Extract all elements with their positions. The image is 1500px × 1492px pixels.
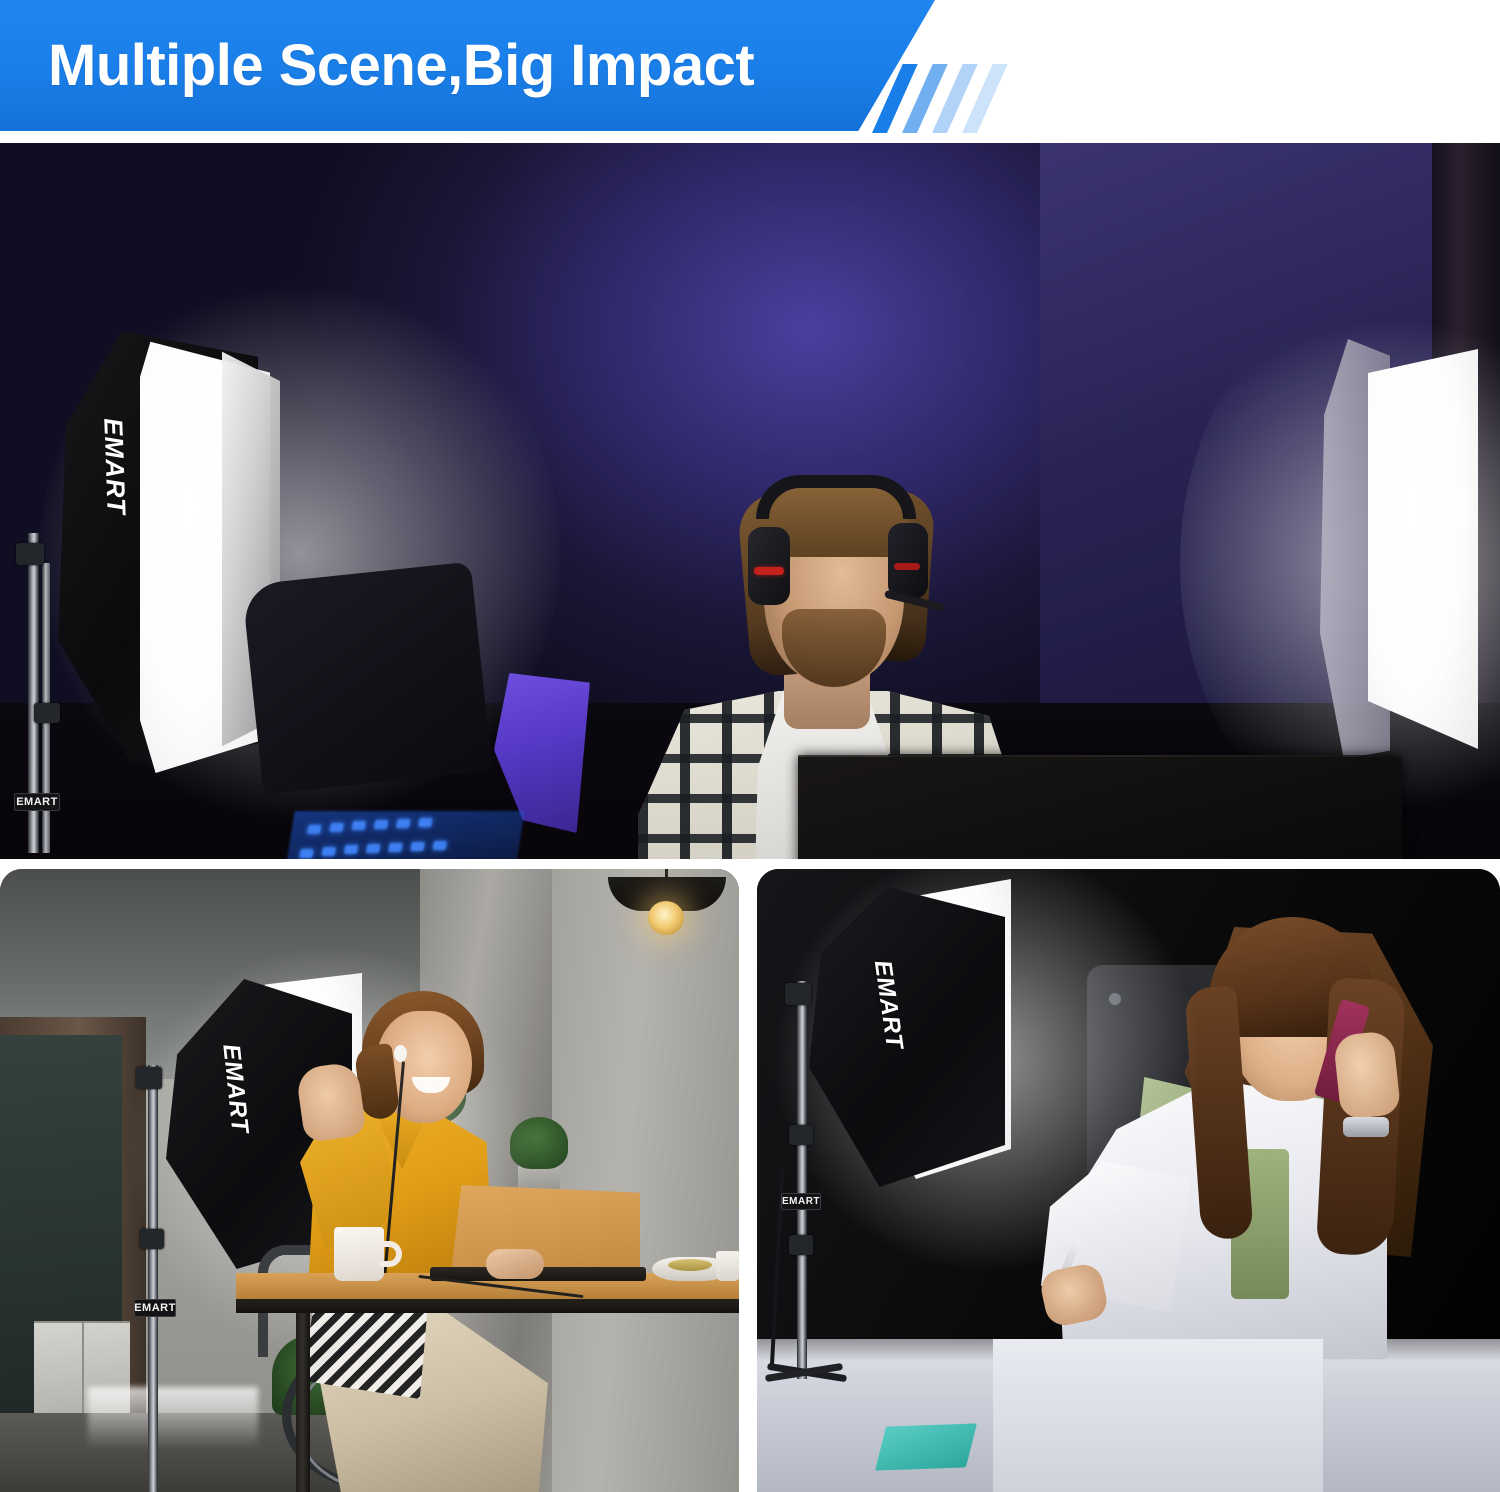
desk-leg [296, 1313, 310, 1492]
floor-light-spill [88, 1387, 258, 1449]
emart-logo-softbox-left: EMART [97, 418, 131, 516]
desk-frame-edge [236, 1299, 739, 1313]
panel-game-live: EMART EMART [0, 143, 1500, 859]
stand-knob-low [789, 1235, 813, 1255]
snack-contents [668, 1259, 712, 1271]
small-cup [716, 1251, 739, 1281]
gaming-chair [242, 562, 493, 795]
headset-earcup-left [748, 527, 790, 605]
emart-plate-stand: EMART [781, 1193, 821, 1210]
woman-phone-hand [1333, 1030, 1401, 1120]
panel-video-meeting: EMART EMART [0, 869, 739, 1492]
teal-sticky-note [875, 1423, 977, 1470]
banner-stripe-decoration [866, 64, 1026, 133]
stand-knob-lower [34, 703, 60, 723]
stand-knob-upper [16, 543, 44, 565]
monitor-screen [798, 757, 1402, 859]
studio-lighting-photo: EMART EMART [757, 869, 1500, 1492]
headset-accent-right [894, 563, 920, 570]
stand-knob-mid [789, 1125, 813, 1145]
banner-title: Multiple Scene,Big Impact [48, 16, 878, 116]
emart-plate-stand-left: EMART [14, 793, 60, 811]
game-live-photo: EMART EMART [0, 143, 1500, 859]
softbox-right-diffuser [1368, 349, 1478, 749]
headset-accent-left [754, 567, 784, 575]
paper-documents [993, 1339, 1323, 1492]
headset-earcup-right [888, 523, 928, 599]
emart-logo-softbox: EMART [216, 1043, 253, 1135]
emart-logo-softbox: EMART [868, 959, 908, 1052]
stand-knob-mid [140, 1229, 164, 1249]
coffee-mug [334, 1227, 384, 1281]
cabinet-divider [82, 1321, 84, 1413]
emart-plate-stand: EMART [134, 1299, 176, 1317]
woman-typing-hand [486, 1249, 544, 1279]
video-meeting-photo: EMART EMART [0, 869, 739, 1492]
earbud [394, 1045, 407, 1062]
rgb-keyboard-glow [277, 811, 524, 859]
light-stand [148, 1065, 158, 1492]
panel-studio-lighting: EMART EMART Studio Lighting [757, 869, 1500, 1492]
header-banner: Multiple Scene,Big Impact [0, 0, 1500, 133]
headset-headband [756, 475, 916, 519]
chair-stud-left [1109, 993, 1121, 1005]
stand-knob-top [136, 1067, 162, 1089]
wristwatch [1343, 1117, 1389, 1137]
pendant-lamp-bulb [648, 901, 684, 935]
light-stand [797, 981, 807, 1379]
product-feature-graphic: Multiple Scene,Big Impact EMART EM [0, 0, 1500, 1492]
stand-knob-top [785, 983, 811, 1005]
plant-foliage-shelf [510, 1117, 568, 1169]
